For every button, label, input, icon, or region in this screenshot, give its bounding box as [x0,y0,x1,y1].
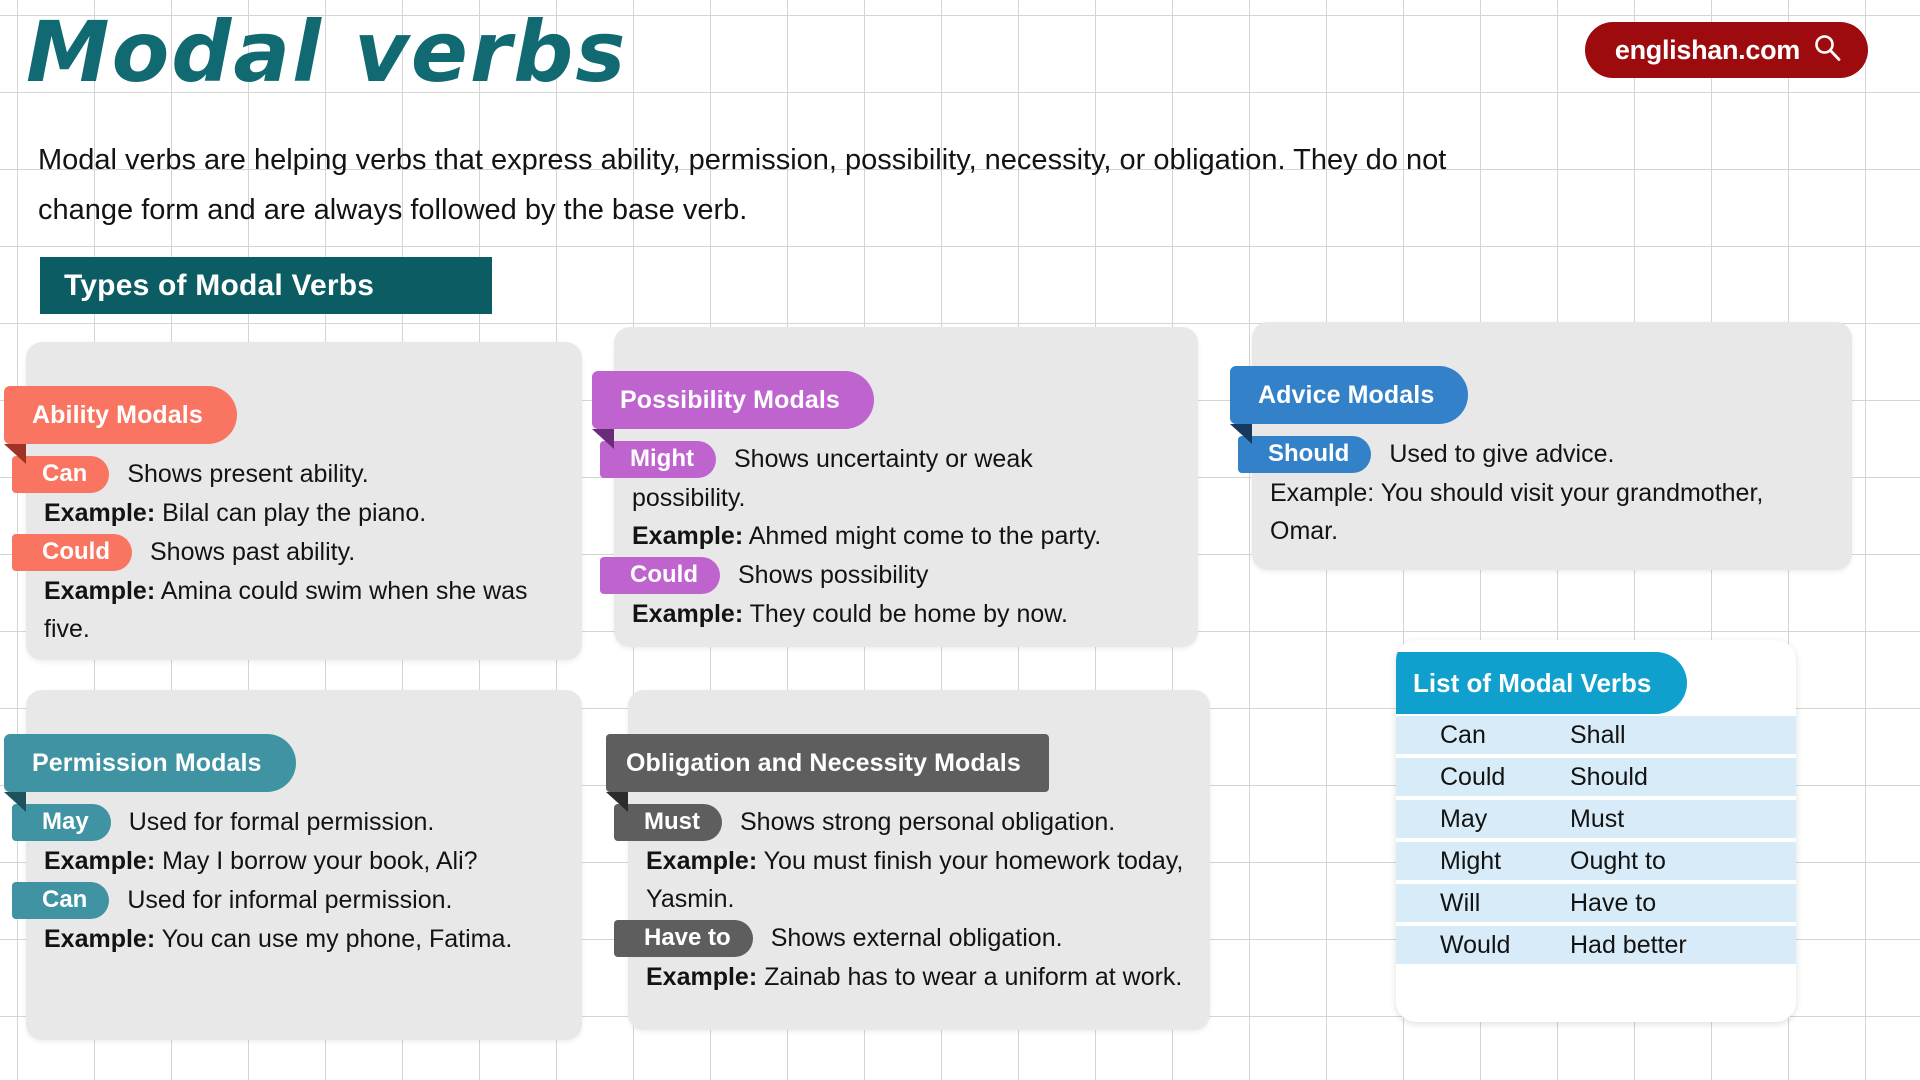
modal-example: Example: Bilal can play the piano. [26,494,560,532]
modal-desc: Used for formal permission. [111,804,435,840]
modal-desc: Shows strong personal obligation. [722,804,1115,840]
modal-example: Example: Zainab has to wear a uniform at… [628,958,1188,996]
card-body: May Used for formal permission. Example:… [26,802,582,976]
list-card-header: List of Modal Verbs [1396,652,1687,714]
modal-desc: Used for informal permission. [109,882,452,918]
example-text: Zainab has to wear a uniform at work. [757,963,1182,991]
header-tail [4,444,26,464]
modal-desc: Shows past ability. [132,534,355,570]
modal-entry: May Used for formal permission. [26,802,560,842]
card-title: Obligation and Necessity Modals [626,749,1021,778]
card-obligation-modals: Obligation and Necessity Modals Must Sho… [628,690,1210,1030]
example-text: You can use my phone, Fatima. [155,925,512,953]
modal-example: Example: They could be home by now. [614,595,1176,633]
example-label: Example: [632,522,743,550]
modal-tag: Could [12,534,132,571]
table-row: Could Should [1396,758,1796,796]
card-body: Must Shows strong personal obligation. E… [628,802,1210,1014]
table-row: Will Have to [1396,884,1796,922]
card-title: Advice Modals [1258,381,1434,410]
table-cell: Have to [1560,889,1656,918]
card-header-permission: Permission Modals [4,734,296,792]
modal-desc-wrap: possibility. [614,479,1176,517]
modal-entry: Could Shows past ability. [26,532,560,572]
modal-entry: Have to Shows external obligation. [628,918,1188,958]
example-label: Example: [44,847,155,875]
stripe-blue [376,314,492,326]
header-tail [4,792,26,812]
site-logo-badge[interactable]: englishan.com [1585,22,1868,78]
table-cell: Shall [1560,721,1626,750]
card-header-obligation: Obligation and Necessity Modals [606,734,1049,792]
modal-example: Example: You can use my phone, Fatima. [26,920,560,958]
table-row: Can Shall [1396,716,1796,754]
modal-desc: Shows present ability. [109,456,368,492]
example-text: May I borrow your book, Ali? [155,847,477,875]
modal-entry: Might Shows uncertainty or weak [614,439,1176,479]
card-body: Might Shows uncertainty or weak possibil… [614,439,1198,651]
example-text: Ahmed might come to the party. [743,522,1101,550]
modal-example: Example: May I borrow your book, Ali? [26,842,560,880]
card-title: Ability Modals [32,401,203,430]
card-body: Should Used to give advice. Example: You… [1252,434,1852,568]
page-title: Modal verbs [26,4,627,101]
modal-tag: May [12,804,111,841]
modal-desc: Shows uncertainty or weak [716,441,1033,477]
table-cell: Can [1396,721,1560,750]
header-tail [606,792,628,812]
table-row: Might Ought to [1396,842,1796,880]
table-cell: Ought to [1560,847,1666,876]
table-cell: Must [1560,805,1624,834]
search-icon [1812,33,1842,68]
example-label: Example: [1270,479,1374,507]
modal-verbs-table: Can Shall Could Should May Must Might Ou… [1396,716,1796,968]
card-title: Possibility Modals [620,386,840,415]
modal-desc: Used to give advice. [1371,436,1614,472]
example-label: Example: [44,499,155,527]
modal-example: Example: You must finish your homework t… [628,842,1188,918]
example-text: Bilal can play the piano. [155,499,426,527]
table-cell: Could [1396,763,1560,792]
example-label: Example: [646,847,757,875]
modal-entry: Should Used to give advice. [1252,434,1830,474]
modal-example: Example: Amina could swim when she was f… [26,572,560,648]
card-advice-modals: Advice Modals Should Used to give advice… [1252,322,1852,570]
card-header-advice: Advice Modals [1230,366,1468,424]
table-cell: May [1396,805,1560,834]
card-permission-modals: Permission Modals May Used for formal pe… [26,690,582,1040]
card-body: Can Shows present ability. Example: Bila… [26,454,582,666]
modal-desc: Shows possibility [720,557,928,593]
example-label: Example: [646,963,757,991]
section-banner-title: Types of Modal Verbs [64,269,374,303]
table-cell: Had better [1560,931,1687,960]
stripe-teal [156,314,266,326]
section-banner: Types of Modal Verbs [40,257,492,326]
intro-paragraph: Modal verbs are helping verbs that expre… [38,135,1468,235]
modal-tag: Must [614,804,722,841]
section-banner-stripes [40,314,492,326]
modal-entry: Must Shows strong personal obligation. [628,802,1188,842]
table-row: Would Had better [1396,926,1796,964]
modal-tag: Might [600,441,716,478]
modal-tag: Should [1238,436,1371,473]
list-card-title: List of Modal Verbs [1413,668,1651,699]
stripe-coral [40,314,156,326]
card-list-of-modal-verbs: List of Modal Verbs Can Shall Could Shou… [1396,640,1796,1022]
logo-text: englishan.com [1615,35,1800,66]
modal-entry: Could Shows possibility [614,555,1176,595]
header-tail [1230,424,1252,444]
example-text: They could be home by now. [743,600,1068,628]
modal-desc: Shows external obligation. [753,920,1063,956]
card-header-ability: Ability Modals [4,386,237,444]
card-possibility-modals: Possibility Modals Might Shows uncertain… [614,327,1198,647]
modal-tag: Have to [614,920,753,957]
table-cell: Would [1396,931,1560,960]
table-row: May Must [1396,800,1796,838]
header-tail [592,429,614,449]
modal-entry: Can Used for informal permission. [26,880,560,920]
modal-tag: Could [600,557,720,594]
table-cell: Might [1396,847,1560,876]
modal-tag: Can [12,882,109,919]
section-banner-bar: Types of Modal Verbs [40,257,492,314]
modal-example: Example: Ahmed might come to the party. [614,517,1176,555]
example-label: Example: [632,600,743,628]
modal-entry: Can Shows present ability. [26,454,560,494]
table-cell: Should [1560,763,1648,792]
example-label: Example: [44,925,155,953]
table-cell: Will [1396,889,1560,918]
card-ability-modals: Ability Modals Can Shows present ability… [26,342,582,660]
card-header-possibility: Possibility Modals [592,371,874,429]
stripe-purple [266,314,376,326]
example-label: Example: [44,577,155,605]
modal-tag: Can [12,456,109,493]
modal-example: Example: You should visit your grandmoth… [1252,474,1830,550]
card-title: Permission Modals [32,749,262,778]
